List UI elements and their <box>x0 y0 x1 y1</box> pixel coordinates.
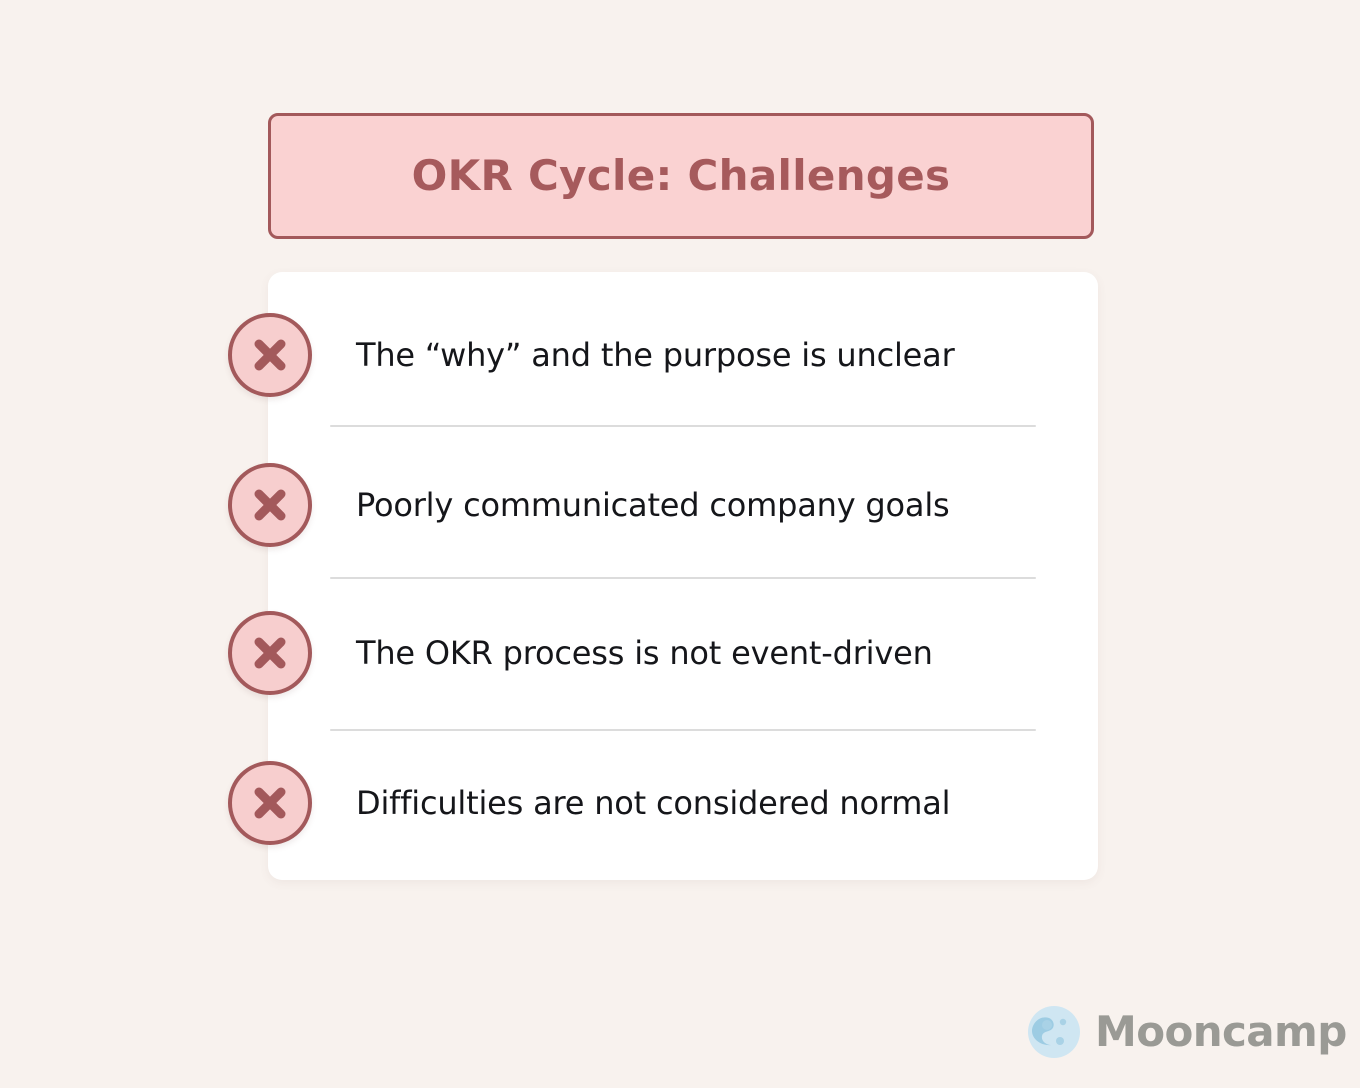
list-divider <box>330 729 1036 731</box>
close-icon <box>248 333 292 377</box>
list-item[interactable]: The “why” and the purpose is unclear <box>268 280 1098 430</box>
list-item-label: Poorly communicated company goals <box>356 487 1076 524</box>
list-item[interactable]: The OKR process is not event-driven <box>268 578 1098 728</box>
list-item-label: The OKR process is not event-driven <box>356 635 1076 672</box>
brand-name: Mooncamp <box>1095 1011 1347 1053</box>
brand-logo: Mooncamp <box>1027 1001 1347 1063</box>
list-divider <box>330 425 1036 427</box>
x-circle-icon <box>228 611 312 695</box>
list-divider <box>330 577 1036 579</box>
x-circle-icon <box>228 313 312 397</box>
x-circle-icon <box>228 761 312 845</box>
x-circle-icon-shape <box>228 761 312 845</box>
x-circle-icon-shape <box>228 463 312 547</box>
page-title-banner: OKR Cycle: Challenges <box>268 113 1094 239</box>
list-item[interactable]: Difficulties are not considered normal <box>268 728 1098 878</box>
close-icon <box>248 631 292 675</box>
list-item[interactable]: Poorly communicated company goals <box>268 430 1098 580</box>
close-icon <box>248 781 292 825</box>
close-icon <box>248 483 292 527</box>
x-circle-icon-shape <box>228 611 312 695</box>
x-circle-icon-shape <box>228 313 312 397</box>
moon-icon <box>1027 1005 1081 1059</box>
page-title: OKR Cycle: Challenges <box>412 155 951 197</box>
list-item-label: Difficulties are not considered normal <box>356 785 1076 822</box>
challenges-card: The “why” and the purpose is unclear Poo… <box>268 272 1098 880</box>
x-circle-icon <box>228 463 312 547</box>
list-item-label: The “why” and the purpose is unclear <box>356 337 1076 374</box>
